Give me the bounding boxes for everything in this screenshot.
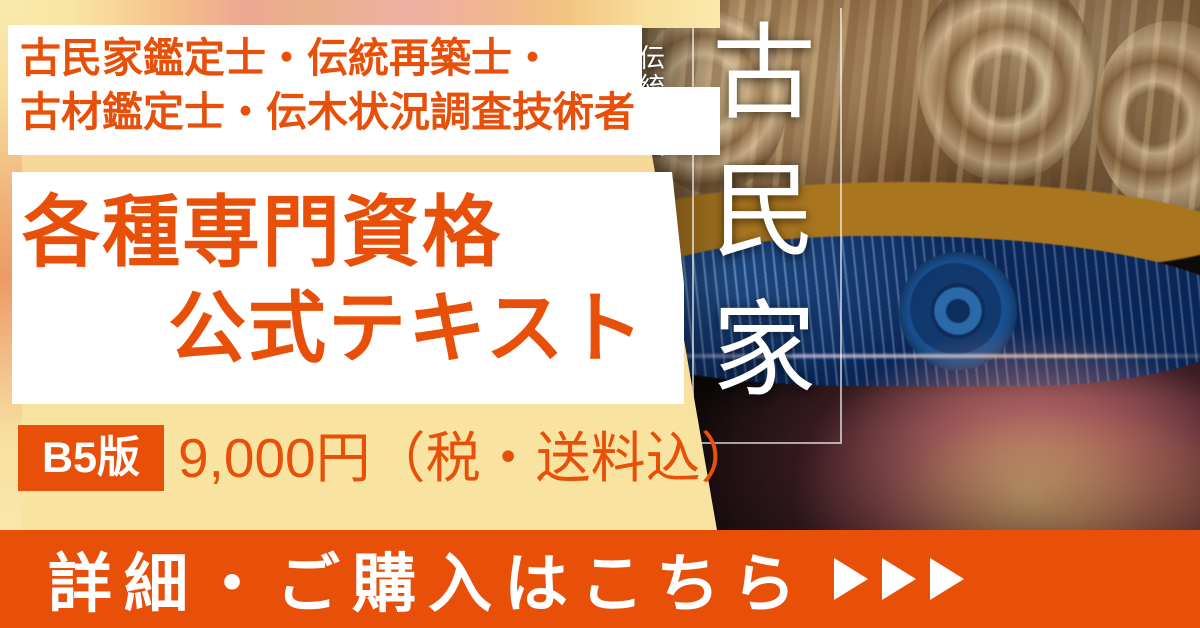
format-badge: B5版	[18, 425, 164, 491]
cta-bar[interactable]: 詳細・ご購入はこちら	[0, 530, 1200, 628]
price-text: 9,000円（税・送料込）	[178, 424, 756, 492]
format-badge-label: B5版	[18, 425, 164, 491]
cta-label: 詳細・ご購入はこちら	[48, 533, 808, 625]
title-line-1: 各種専門資格	[22, 184, 502, 280]
triangle-right-icon	[834, 558, 868, 600]
headline-line-1: 古民家鑑定士・伝統再築士・	[20, 31, 720, 85]
headline-text: 古民家鑑定士・伝統再築士・ 古材鑑定士・伝木状況調査技術者	[20, 31, 720, 139]
triangle-right-icon	[930, 558, 964, 600]
cta-arrow-group	[834, 558, 964, 600]
title-line-2: 公式テキスト	[168, 280, 646, 376]
promo-banner: 古民家 伝統構法 古民家活用のための調査と再生の 古民家鑑定士・伝統再築士・ 古…	[0, 0, 1200, 628]
top-gradient-band	[0, 0, 720, 28]
headline-line-2: 古材鑑定士・伝木状況調査技術者	[20, 85, 720, 139]
book-cover-title: 古民家	[702, 6, 828, 421]
triangle-right-icon	[882, 558, 916, 600]
